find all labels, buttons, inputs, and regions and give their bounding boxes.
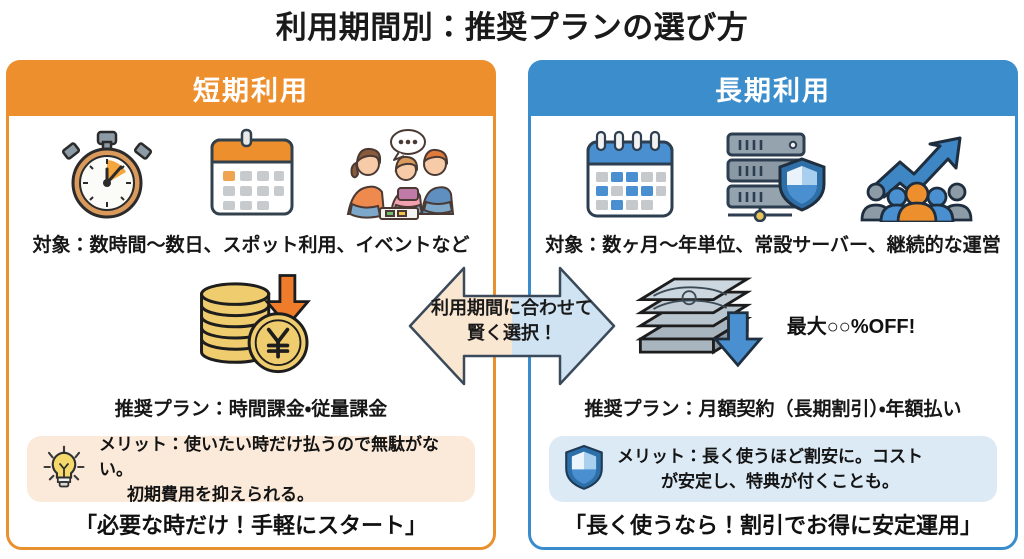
page-title: 利用期間別：推奨プランの選び方 [0,6,1024,50]
merit-box-long-term: メリット：長く使うほど割安に。コスト が安定し、特典が付くことも。 [549,436,997,502]
discount-label: 最大○○%OFF! [787,310,916,339]
icon-row-short-term [9,124,493,224]
merit-line2-short-term: 初期費用を抑えられる。 [99,482,461,507]
merit-line1-short-term: メリット：使いたい時だけ払うので無駄がない。 [99,435,439,479]
merit-line2-long-term: が安定し、特典が付くことも。 [617,469,923,494]
panel-header-long-term: 長期利用 [528,60,1018,116]
lightbulb-icon [41,444,87,495]
icon-row-long-term [531,124,1015,224]
merit-text-long-term: メリット：長く使うほど割安に。コスト が安定し、特典が付くことも。 [617,444,923,494]
tagline-long-term: 「長く使うなら！割引でお得に安定運用」 [531,508,1015,540]
calendar-orange-icon [192,126,310,222]
panel-header-short-term: 短期利用 [6,60,496,116]
merit-line1-long-term: メリット：長く使うほど割安に。コスト [617,447,923,466]
tagline-short-term: 「必要な時だけ！手軽にスタート」 [9,508,493,540]
server-shield-icon [714,126,832,222]
merit-text-short-term: メリット：使いたい時だけ払うので無駄がない。 初期費用を抑えられる。 [99,432,461,507]
growth-arrow-people-icon [858,126,976,222]
merit-box-short-term: メリット：使いたい時だけ払うので無駄がない。 初期費用を抑えられる。 [27,436,475,502]
center-double-arrow [406,252,618,400]
people-meeting-icon [336,126,454,222]
stopwatch-icon [48,126,166,222]
shield-icon [563,443,605,496]
calendar-blue-icon [570,126,688,222]
